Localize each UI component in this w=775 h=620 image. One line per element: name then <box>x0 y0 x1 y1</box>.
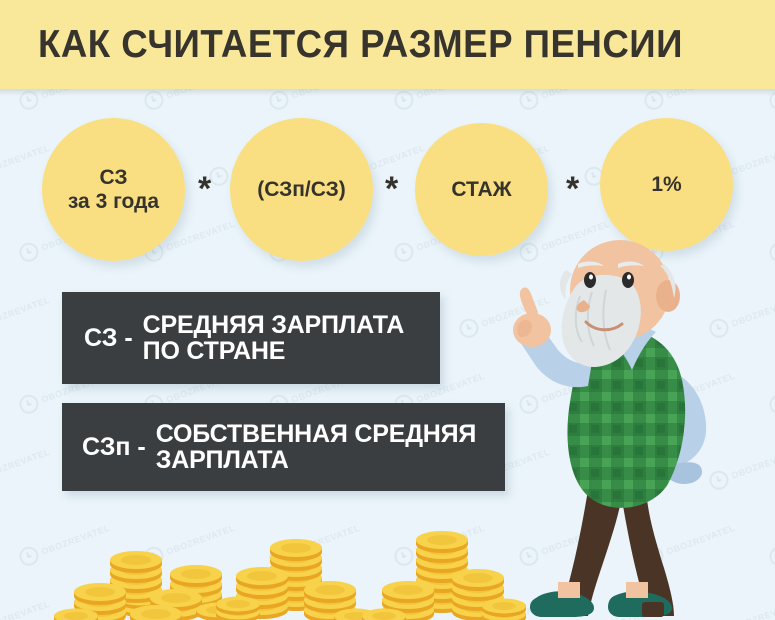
formula-term-1: СЗ за 3 года <box>42 118 185 261</box>
legend-item-sz: СЗ - СРЕДНЯЯ ЗАРПЛАТА ПО СТРАНЕ <box>62 292 440 384</box>
clock-circle-icon <box>17 392 41 416</box>
operator-asterisk-2: * <box>385 172 398 206</box>
watermark-mark: OBOZREVATEL <box>0 442 53 492</box>
formula-term-4: 1% <box>600 118 733 251</box>
formula-term-3-line1: СТАЖ <box>451 178 511 202</box>
clock-circle-icon <box>767 392 775 416</box>
legend-item-szp: СЗп - СОБСТВЕННАЯ СРЕДНЯЯ ЗАРПЛАТА <box>62 403 505 491</box>
operator-asterisk-3: * <box>566 172 579 206</box>
watermark-text: OBOZREVATEL <box>0 294 51 328</box>
legend-abbr-szp: СЗп - <box>82 433 146 462</box>
infographic-root: OBOZREVATELOBOZREVATELOBOZREVATELOBOZREV… <box>0 0 775 620</box>
formula-term-2: (СЗп/СЗ) <box>230 118 373 261</box>
page-title: КАК СЧИТАЕТСЯ РАЗМЕР ПЕНСИИ <box>38 23 683 67</box>
legend-abbr-sz: СЗ - <box>84 324 133 353</box>
formula-row: СЗ за 3 года * (СЗп/СЗ) * СТАЖ * 1% <box>0 112 775 257</box>
legend-desc-sz-line2: ПО СТРАНЕ <box>143 337 286 365</box>
legend-desc-szp-line1: СОБСТВЕННАЯ СРЕДНЯЯ <box>156 420 476 448</box>
watermark-mark: OBOZREVATEL <box>767 366 775 416</box>
formula-term-4-line1: 1% <box>651 173 681 197</box>
formula-term-1-line2: за 3 года <box>68 190 159 214</box>
watermark-text: OBOZREVATEL <box>0 446 51 480</box>
header-banner: КАК СЧИТАЕТСЯ РАЗМЕР ПЕНСИИ <box>0 0 775 89</box>
legend-desc-sz-line1: СРЕДНЯЯ ЗАРПЛАТА <box>143 311 404 339</box>
watermark-mark: OBOZREVATEL <box>0 290 53 340</box>
header-shadow <box>0 89 775 96</box>
formula-term-1-line1: СЗ <box>99 166 127 190</box>
clock-circle-icon <box>457 316 481 340</box>
legend-desc-szp-line2: ЗАРПЛАТА <box>156 446 289 474</box>
elderly-man-illustration <box>492 238 752 620</box>
legend-desc-sz: СРЕДНЯЯ ЗАРПЛАТА ПО СТРАНЕ <box>143 312 404 365</box>
formula-term-3: СТАЖ <box>415 123 548 256</box>
formula-term-2-line1: (СЗп/СЗ) <box>257 178 346 202</box>
legend-desc-szp: СОБСТВЕННАЯ СРЕДНЯЯ ЗАРПЛАТА <box>156 421 476 474</box>
operator-asterisk-1: * <box>198 172 211 206</box>
